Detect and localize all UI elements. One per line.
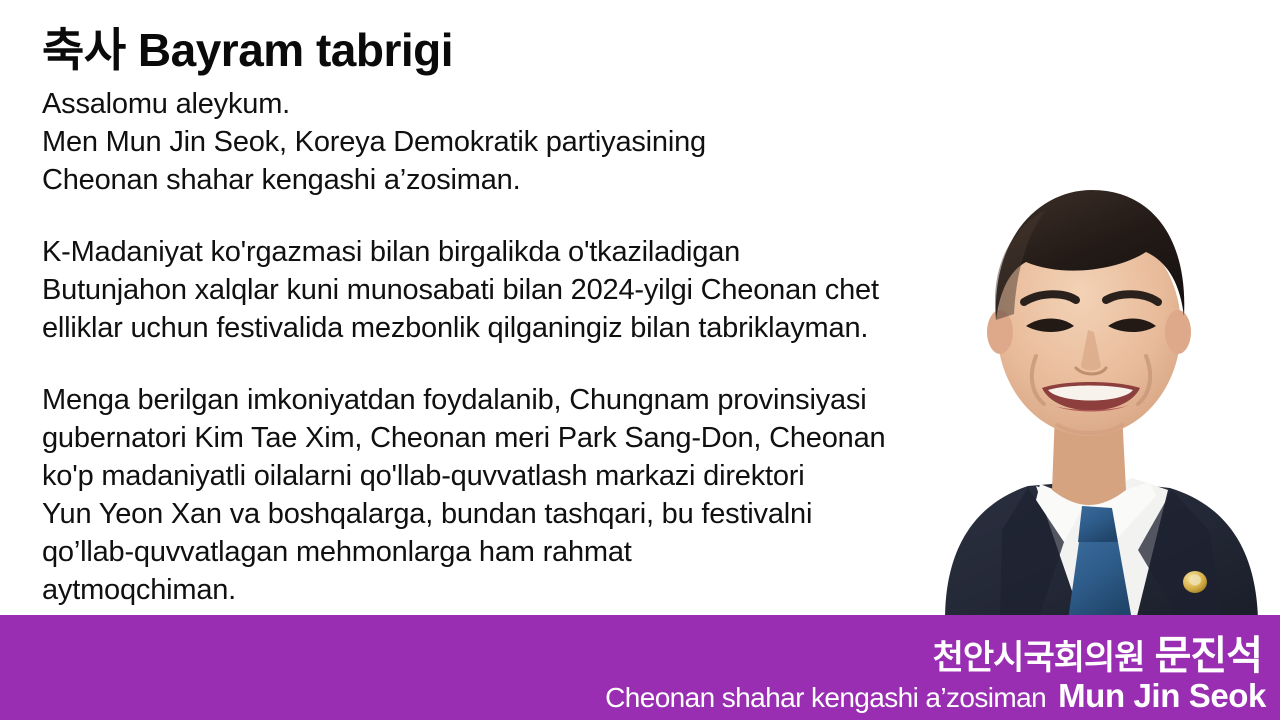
page-title: 축사 Bayram tabrigi [42, 26, 1002, 76]
body-line: Yun Yeon Xan va boshqalarga, bundan tash… [42, 495, 1002, 533]
body-line: Butunjahon xalqlar kuni munosabati bilan… [42, 271, 1002, 309]
body-line: elliklar uchun festivalida mezbonlik qil… [42, 309, 1002, 347]
body-line: Assalomu aleykum. [42, 85, 1002, 123]
lapel-pin-icon [1183, 571, 1207, 593]
body-line: qo’llab-quvvatlagan mehmonlarga ham rahm… [42, 533, 1002, 571]
body-line: aytmoqchiman. [42, 571, 1002, 609]
footer-korean-credit: 천안시국회의원 문진석 [933, 623, 1262, 681]
footer-latin-credit: Cheonan shahar kengashi a’zosiman Mun Ji… [605, 677, 1266, 715]
footer-korean-role: 천안시국회의원 [933, 630, 1145, 679]
page-title-korean: 축사 [42, 24, 126, 76]
body-line: gubernatori Kim Tae Xim, Cheonan meri Pa… [42, 419, 1002, 457]
body-line: ko'p madaniyatli oilalarni qo'llab-quvva… [42, 457, 1002, 495]
paragraph-2: K-Madaniyat ko'rgazmasi bilan birgalikda… [42, 233, 1002, 347]
paragraph-3: Menga berilgan imkoniyatdan foydalanib, … [42, 381, 1002, 609]
message-content: 축사 Bayram tabrigi Assalomu aleykum. Men … [42, 26, 1002, 609]
body-line: Cheonan shahar kengashi a’zosiman. [42, 161, 1002, 199]
footer-latin-role: Cheonan shahar kengashi a’zosiman [605, 682, 1046, 714]
body-line: Men Mun Jin Seok, Koreya Demokratik part… [42, 123, 1002, 161]
page-title-latin: Bayram tabrigi [138, 24, 453, 76]
footer-korean-name: 문진석 [1155, 623, 1262, 681]
paragraph-1: Assalomu aleykum. Men Mun Jin Seok, Kore… [42, 85, 1002, 199]
footer-latin-name: Mun Jin Seok [1058, 677, 1266, 715]
message-body: Assalomu aleykum. Men Mun Jin Seok, Kore… [42, 85, 1002, 609]
body-line: K-Madaniyat ko'rgazmasi bilan birgalikda… [42, 233, 1002, 271]
footer-bar: 천안시국회의원 문진석 Cheonan shahar kengashi a’zo… [0, 615, 1280, 720]
body-line: Menga berilgan imkoniyatdan foydalanib, … [42, 381, 1002, 419]
